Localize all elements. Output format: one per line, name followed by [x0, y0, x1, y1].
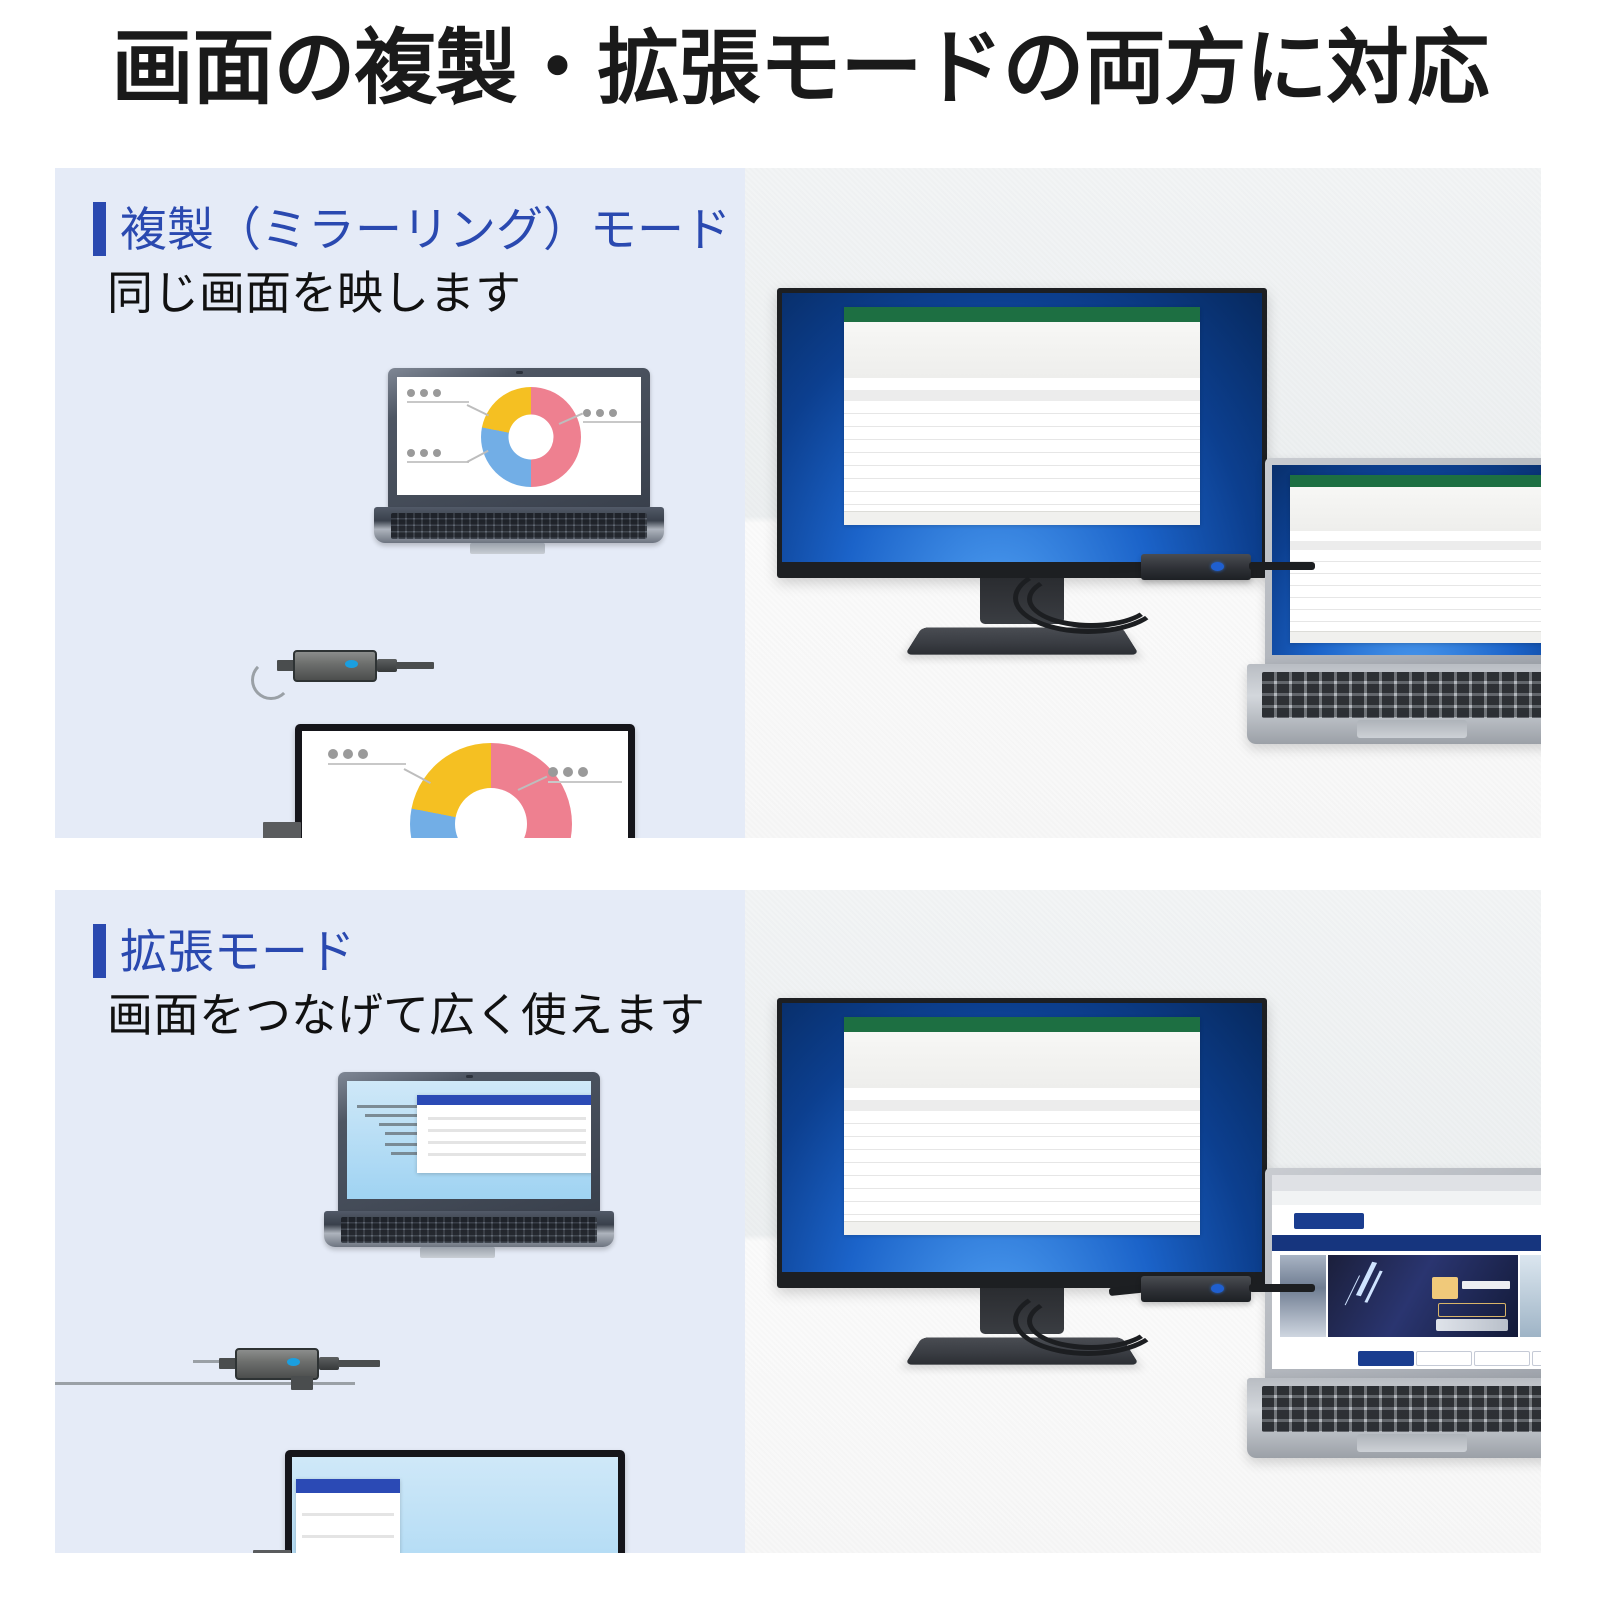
- hero-banner[interactable]: [1328, 1255, 1518, 1337]
- tv-callout-top-left: [328, 749, 406, 765]
- adapter-connector-right: [377, 659, 397, 672]
- mirror-mode-title: 複製（ミラーリング）モード: [120, 206, 731, 253]
- mirror-photo: [745, 168, 1541, 838]
- adapter-cable-connector-down: [291, 1376, 313, 1390]
- extend-illustration-tv: [285, 1450, 625, 1553]
- page-title: 画面の複製・拡張モードの両方に対応: [0, 24, 1600, 114]
- excel-status-bar: [844, 511, 1200, 525]
- extend-illustration-adapter: [205, 1342, 375, 1402]
- photo-adapter: [1013, 536, 1343, 646]
- adapter-cable-right: [1249, 562, 1315, 570]
- extend-mode-title: 拡張モード: [120, 928, 355, 975]
- excel-grid: [844, 1111, 1200, 1221]
- site-main-nav[interactable]: [1272, 1235, 1541, 1251]
- extend-photo-monitor: [777, 998, 1267, 1288]
- mirror-heading: 複製（ミラーリング）モード 同じ画面を映します: [93, 202, 731, 319]
- adapter-cable-right: [338, 1360, 380, 1367]
- lightning-bolt-icon: [1356, 1262, 1377, 1296]
- adapter-connector-right: [319, 1357, 339, 1370]
- panel-extend-mode: 拡張モード 画面をつなげて広く使えます: [55, 890, 1541, 1553]
- mirror-illustration-adapter-top: [251, 642, 411, 702]
- site-button[interactable]: [1474, 1351, 1530, 1366]
- laptop-donut-chart: [481, 387, 581, 487]
- extend-excel-window: [844, 1017, 1200, 1235]
- tv-callout-right: [548, 767, 622, 783]
- excel-title-bar: [844, 1017, 1200, 1032]
- accent-bar-extend: [93, 924, 106, 978]
- extend-tv-cable-connector: [253, 1550, 291, 1553]
- tv-donut-chart: [410, 743, 572, 838]
- mirror-illustration-tv: [295, 724, 635, 838]
- site-button[interactable]: [1358, 1351, 1414, 1366]
- infographic-page: 画面の複製・拡張モードの両方に対応 複製（ミラーリング）モード 同じ画面を映しま…: [0, 0, 1600, 1600]
- extend-window-left-half: [417, 1095, 591, 1173]
- sanwa-logo: [1294, 1213, 1364, 1229]
- adapter-cable-right: [1249, 1284, 1315, 1292]
- photo-laptop-base: [1247, 664, 1541, 744]
- excel-title-bar-laptop: [1290, 475, 1541, 487]
- excel-status-bar: [844, 1221, 1200, 1235]
- hero-product: [1436, 1319, 1508, 1331]
- adapter-cable-right: [396, 662, 434, 669]
- monitor-screen: [782, 293, 1262, 562]
- browser-tab-strip[interactable]: [1272, 1175, 1541, 1191]
- mirror-mode-subtitle: 同じ画面を映します: [107, 268, 731, 319]
- extend-photo: [745, 890, 1541, 1553]
- tv-screen: [302, 731, 628, 838]
- callout-top-left: [407, 389, 469, 403]
- extend-illustration: 拡張モード 画面をつなげて広く使えます: [55, 890, 745, 1553]
- excel-ribbon: [844, 1032, 1200, 1089]
- excel-ribbon-laptop: [1290, 487, 1541, 532]
- window-title-bar: [417, 1095, 591, 1105]
- adapter-cable-loop-inner: [1027, 570, 1155, 628]
- panel-mirroring-mode: 複製（ミラーリング）モード 同じ画面を映します: [55, 168, 1541, 838]
- adapter-body: [293, 650, 377, 682]
- adapter-power-led-icon: [1211, 562, 1224, 571]
- extend-photo-laptop-base: [1247, 1378, 1541, 1458]
- desktop-text-line: [365, 1114, 419, 1117]
- mirror-illustration-laptop: [388, 368, 650, 543]
- extend-monitor-screen: [782, 1003, 1262, 1272]
- browser-address-bar[interactable]: [1272, 1191, 1541, 1205]
- desktop-text-line: [357, 1105, 419, 1108]
- hero-right-photo: [1520, 1255, 1541, 1337]
- hero-text: [1462, 1281, 1510, 1289]
- callout-right: [583, 409, 641, 423]
- tv-cable-connector: [263, 822, 301, 838]
- extend-mode-subtitle: 画面をつなげて広く使えます: [107, 990, 705, 1041]
- hero-subtext: [1438, 1303, 1506, 1317]
- adapter-housing: [1141, 1276, 1251, 1302]
- extend-laptop-screen: [347, 1081, 591, 1199]
- extend-illustration-laptop: [338, 1072, 600, 1247]
- adapter-led-icon: [287, 1358, 300, 1366]
- accent-bar: [93, 202, 106, 256]
- photo-monitor: [777, 288, 1267, 578]
- excel-grid: [844, 401, 1200, 511]
- extend-window-right-half: [296, 1479, 400, 1553]
- tv-window-title-bar: [296, 1479, 400, 1493]
- excel-window-monitor: [844, 307, 1200, 525]
- mirror-illustration: 複製（ミラーリング）モード 同じ画面を映します: [55, 168, 745, 838]
- laptop-screen: [397, 377, 641, 495]
- adapter-power-led-icon: [1211, 1284, 1224, 1293]
- hero-headline: [1432, 1277, 1458, 1299]
- adapter-led-icon: [345, 660, 358, 668]
- site-button[interactable]: [1532, 1351, 1541, 1366]
- extend-photo-adapter: [1013, 1258, 1343, 1368]
- excel-title-bar: [844, 307, 1200, 322]
- extend-heading: 拡張モード 画面をつなげて広く使えます: [93, 924, 705, 1041]
- adapter-cable-loop-inner: [1027, 1292, 1155, 1350]
- callout-bottom-left: [407, 449, 469, 463]
- leader-line-1: [467, 404, 489, 416]
- excel-ribbon: [844, 322, 1200, 379]
- adapter-housing: [1141, 554, 1251, 580]
- site-button[interactable]: [1416, 1351, 1472, 1366]
- extend-tv-screen: [292, 1457, 618, 1553]
